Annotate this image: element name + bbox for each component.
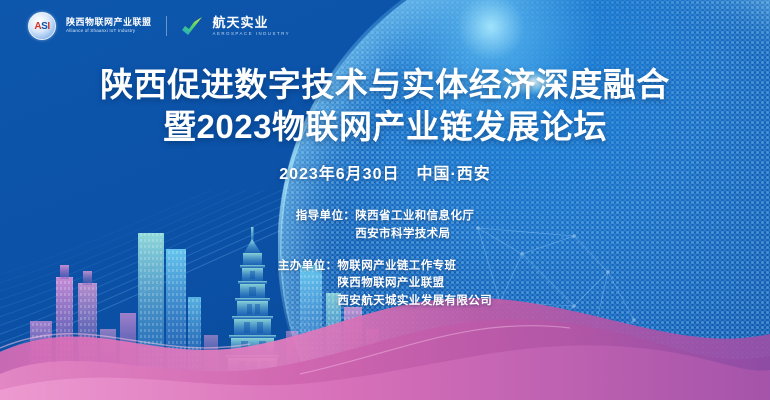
alliance-name-cn: 陕西物联网产业联盟 [66, 18, 152, 27]
organizer-label-host: 主办单位： [278, 258, 338, 276]
alliance-name-en: Alliance of Shaanxi IoT Industry [66, 29, 152, 34]
asi-letter-i: I [47, 21, 49, 32]
asi-alliance-logo-icon: ASI [28, 12, 56, 40]
event-date-location: 2023年6月30日 中国·西安 [0, 160, 770, 184]
organizer-item: 陕西省工业和信息化厅 [355, 208, 474, 226]
aerospace-logo-text: 航天实业 AEROSPACE INDUSTRY [213, 16, 291, 36]
title-line-2: 暨2023物联网产业链发展论坛 [0, 108, 770, 146]
organizer-section: 指导单位： 陕西省工业和信息化厅 西安市科学技术局 主办单位： 物联网产业链工作… [0, 208, 770, 311]
alliance-logo-text: 陕西物联网产业联盟 Alliance of Shaanxi IoT Indust… [66, 18, 152, 34]
aerospace-swoosh-icon [181, 16, 203, 36]
organizer-block-host: 主办单位： 物联网产业链工作专班 陕西物联网产业联盟 西安航天城实业发展有限公司 [0, 258, 770, 311]
organizer-item: 陕西物联网产业联盟 [337, 275, 492, 293]
organizer-block-guidance: 指导单位： 陕西省工业和信息化厅 西安市科学技术局 [0, 208, 770, 244]
organizer-item: 西安航天城实业发展有限公司 [337, 293, 492, 311]
logo-bar: ASI 陕西物联网产业联盟 Alliance of Shaanxi IoT In… [28, 10, 290, 42]
title-line-1: 陕西促进数字技术与实体经济深度融合 [0, 66, 770, 104]
page-title: 陕西促进数字技术与实体经济深度融合 暨2023物联网产业链发展论坛 [0, 66, 770, 147]
aerospace-name-cn: 航天实业 [213, 16, 291, 29]
aerospace-name-en: AEROSPACE INDUSTRY [213, 32, 291, 36]
organizer-item: 物联网产业链工作专班 [337, 258, 492, 276]
asi-letter-a: A [34, 21, 41, 32]
organizer-item: 西安市科学技术局 [355, 226, 474, 244]
organizer-label-guidance: 指导单位： [296, 208, 356, 226]
logo-divider [166, 16, 167, 36]
forum-banner: ASI 陕西物联网产业联盟 Alliance of Shaanxi IoT In… [0, 0, 770, 400]
